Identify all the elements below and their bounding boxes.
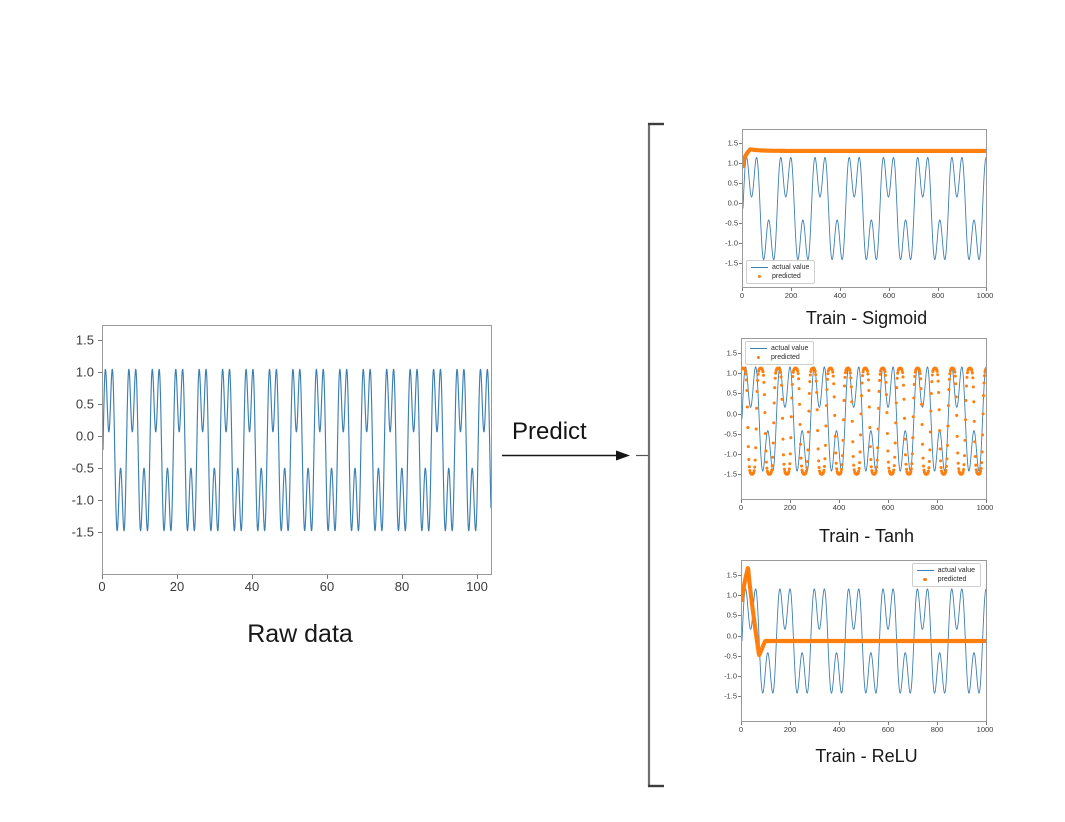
- raw-xtickmark-0: [102, 575, 103, 579]
- relu-ytickmark-2: [738, 615, 741, 616]
- relu-ytickmark-6: [738, 696, 741, 697]
- relu-xtick-2: 400: [833, 725, 846, 734]
- train-sigmoid-legend: actual value predicted: [746, 260, 815, 284]
- raw-data-curve: [103, 326, 491, 574]
- legend-line-icon: [917, 570, 934, 571]
- relu-ytick-3: 0.0: [715, 632, 737, 641]
- tanh-ytickmark-1: [738, 373, 741, 374]
- tanh-ytick-4: -0.5: [715, 430, 737, 439]
- tanh-ytick-5: -1.0: [715, 450, 737, 459]
- tanh-ytick-3: 0.0: [715, 410, 737, 419]
- legend-line-icon: [750, 348, 767, 349]
- raw-xtick-0: 0: [98, 579, 105, 594]
- tanh-xtickmark-4: [937, 500, 938, 503]
- sig-ytick-5: -1.0: [716, 239, 738, 248]
- train-sigmoid-chart: actual value predicted 1.5 1.0 0.5 0.0 -…: [742, 129, 987, 288]
- relu-xtickmark-5: [986, 722, 987, 725]
- relu-ytick-6: -1.5: [715, 692, 737, 701]
- legend-dot-icon: [750, 356, 767, 360]
- legend-row-actual: actual value: [917, 567, 975, 574]
- raw-xtick-4: 80: [395, 579, 409, 594]
- legend-dot-icon: [751, 275, 768, 279]
- train-relu-legend: actual value predicted: [912, 563, 981, 587]
- raw-ytickmark-5: [98, 500, 102, 501]
- relu-ytick-1: 1.0: [715, 591, 737, 600]
- tanh-xtickmark-5: [986, 500, 987, 503]
- raw-data-plot-frame: [102, 325, 492, 575]
- raw-xtick-3: 60: [320, 579, 334, 594]
- relu-xtick-1: 200: [784, 725, 797, 734]
- tanh-xtickmark-3: [888, 500, 889, 503]
- sig-ytick-4: -0.5: [716, 219, 738, 228]
- train-sigmoid-caption: Train - Sigmoid: [744, 308, 989, 329]
- train-tanh-chart: actual value predicted 1.5 1.0 0.5 0.0 -…: [741, 338, 987, 500]
- raw-data-chart: 1.5 1.0 0.5 0.0 -0.5 -1.0 -1.5 0 20 40 6…: [102, 325, 492, 575]
- raw-ytick-5: -1.0: [56, 493, 94, 508]
- sig-ytick-1: 1.0: [716, 159, 738, 168]
- relu-ytickmark-1: [738, 595, 741, 596]
- relu-ytick-5: -1.0: [715, 672, 737, 681]
- raw-ytickmark-3: [98, 436, 102, 437]
- sig-xtickmark-2: [840, 288, 841, 291]
- relu-xtick-3: 600: [882, 725, 895, 734]
- relu-ytick-2: 0.5: [715, 611, 737, 620]
- raw-ytickmark-0: [98, 340, 102, 341]
- sig-ytick-0: 1.5: [716, 139, 738, 148]
- raw-ytick-4: -0.5: [56, 461, 94, 476]
- relu-ytickmark-5: [738, 676, 741, 677]
- tanh-ytick-2: 0.5: [715, 389, 737, 398]
- tanh-ytickmark-2: [738, 393, 741, 394]
- raw-ytick-3: 0.0: [56, 429, 94, 444]
- raw-xtickmark-1: [177, 575, 178, 579]
- raw-ytickmark-1: [98, 372, 102, 373]
- tanh-ytick-0: 1.5: [715, 349, 737, 358]
- sig-xtick-0: 0: [740, 291, 744, 300]
- legend-row-predicted: predicted: [751, 273, 809, 280]
- sig-ytick-3: 0.0: [716, 199, 738, 208]
- tanh-ytick-1: 1.0: [715, 369, 737, 378]
- raw-ytick-0: 1.5: [56, 333, 94, 348]
- raw-xtick-2: 40: [245, 579, 259, 594]
- tanh-ytickmark-6: [738, 474, 741, 475]
- group-bracket-icon: [646, 122, 668, 788]
- relu-xtick-0: 0: [739, 725, 743, 734]
- tanh-ytick-6: -1.5: [715, 470, 737, 479]
- tanh-xtickmark-0: [741, 500, 742, 503]
- relu-xtick-4: 800: [931, 725, 944, 734]
- relu-xtickmark-2: [839, 722, 840, 725]
- sig-ytickmark-3: [739, 203, 742, 204]
- sig-xtickmark-5: [986, 288, 987, 291]
- legend-label-predicted: predicted: [772, 273, 801, 280]
- legend-row-actual: actual value: [751, 264, 809, 271]
- tanh-xtick-5: 1000: [977, 503, 994, 512]
- sig-xtick-2: 400: [834, 291, 847, 300]
- legend-row-predicted: predicted: [917, 576, 975, 583]
- sig-xtickmark-4: [938, 288, 939, 291]
- tanh-ytickmark-4: [738, 434, 741, 435]
- predict-arrow-icon: [498, 440, 658, 472]
- tanh-xtick-4: 800: [931, 503, 944, 512]
- raw-ytick-1: 1.0: [56, 365, 94, 380]
- train-relu-caption: Train - ReLU: [744, 746, 989, 767]
- legend-label-predicted: predicted: [938, 576, 967, 583]
- relu-xtickmark-0: [741, 722, 742, 725]
- sig-xtick-1: 200: [785, 291, 798, 300]
- relu-ytickmark-3: [738, 636, 741, 637]
- legend-label-actual: actual value: [771, 345, 808, 352]
- tanh-ytickmark-0: [738, 353, 741, 354]
- legend-row-predicted: predicted: [750, 354, 808, 361]
- tanh-xtick-1: 200: [784, 503, 797, 512]
- raw-ytickmark-6: [98, 532, 102, 533]
- raw-xtickmark-2: [252, 575, 253, 579]
- sig-ytick-2: 0.5: [716, 179, 738, 188]
- legend-dot-icon: [917, 578, 934, 582]
- raw-ytickmark-2: [98, 404, 102, 405]
- relu-ytick-0: 1.5: [715, 571, 737, 580]
- tanh-ytickmark-5: [738, 454, 741, 455]
- sig-ytickmark-1: [739, 163, 742, 164]
- sig-xtick-3: 600: [883, 291, 896, 300]
- raw-ytickmark-4: [98, 468, 102, 469]
- raw-xtick-1: 20: [170, 579, 184, 594]
- sig-ytick-6: -1.5: [716, 259, 738, 268]
- raw-xtickmark-3: [327, 575, 328, 579]
- relu-xtickmark-3: [888, 722, 889, 725]
- sig-ytickmark-5: [739, 243, 742, 244]
- legend-label-predicted: predicted: [771, 354, 800, 361]
- raw-ytick-6: -1.5: [56, 525, 94, 540]
- raw-xtickmark-4: [402, 575, 403, 579]
- sig-ytickmark-4: [739, 223, 742, 224]
- sig-xtickmark-0: [742, 288, 743, 291]
- legend-label-actual: actual value: [938, 567, 975, 574]
- legend-row-actual: actual value: [750, 345, 808, 352]
- tanh-xtick-3: 600: [882, 503, 895, 512]
- train-relu-chart: actual value predicted 1.5 1.0 0.5 0.0 -…: [741, 560, 987, 722]
- train-tanh-caption: Train - Tanh: [744, 526, 989, 547]
- legend-label-actual: actual value: [772, 264, 809, 271]
- raw-ytick-2: 0.5: [56, 397, 94, 412]
- relu-xtickmark-4: [937, 722, 938, 725]
- raw-xtick-5: 100: [466, 579, 488, 594]
- sig-xtick-5: 1000: [977, 291, 994, 300]
- sig-ytickmark-2: [739, 183, 742, 184]
- sig-ytickmark-6: [739, 263, 742, 264]
- relu-xtickmark-1: [790, 722, 791, 725]
- tanh-xtick-0: 0: [739, 503, 743, 512]
- sig-xtickmark-1: [791, 288, 792, 291]
- sig-xtickmark-3: [889, 288, 890, 291]
- legend-line-icon: [751, 267, 768, 268]
- relu-ytick-4: -0.5: [715, 652, 737, 661]
- tanh-ytickmark-3: [738, 414, 741, 415]
- tanh-xtickmark-1: [790, 500, 791, 503]
- sig-ytickmark-0: [739, 143, 742, 144]
- tanh-xtick-2: 400: [833, 503, 846, 512]
- raw-data-caption: Raw data: [180, 620, 420, 649]
- relu-ytickmark-4: [738, 656, 741, 657]
- tanh-xtickmark-2: [839, 500, 840, 503]
- figure-canvas: 1.5 1.0 0.5 0.0 -0.5 -1.0 -1.5 0 20 40 6…: [0, 0, 1065, 822]
- train-tanh-legend: actual value predicted: [745, 341, 814, 365]
- sig-xtick-4: 800: [932, 291, 945, 300]
- relu-ytickmark-0: [738, 575, 741, 576]
- raw-xtickmark-5: [477, 575, 478, 579]
- relu-xtick-5: 1000: [977, 725, 994, 734]
